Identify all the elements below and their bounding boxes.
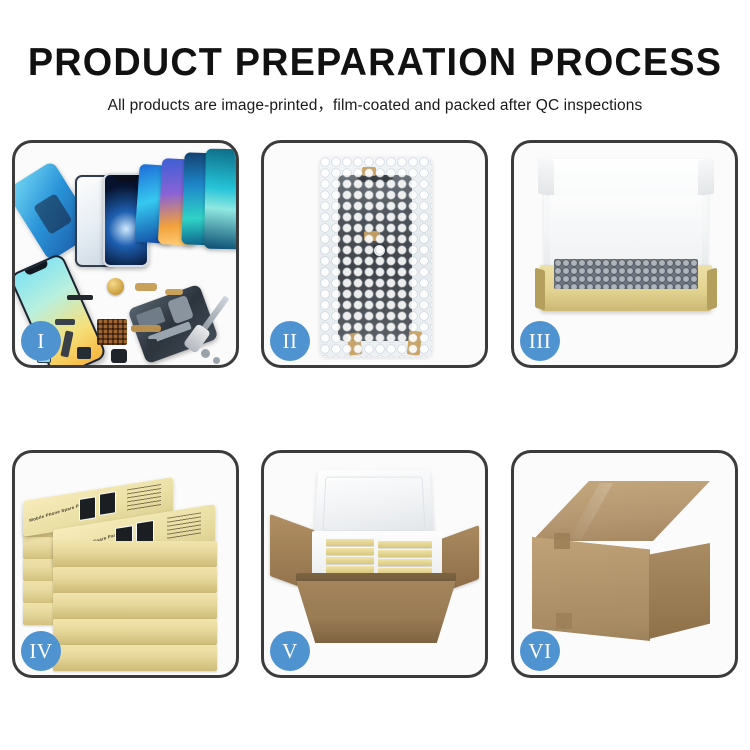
phone-cyan	[204, 149, 236, 250]
tape-strip-bottom-right	[407, 330, 422, 355]
bubble-wrapped-contents	[554, 259, 698, 289]
camera-module-part	[77, 347, 91, 359]
screw-part-b	[213, 357, 220, 364]
box-print-text-lines-a	[127, 484, 161, 511]
tape-strip-middle	[364, 231, 380, 241]
box-print-text-lines-b	[167, 512, 201, 539]
inner-box-3	[326, 557, 374, 564]
tape-strip-bottom-left	[347, 332, 363, 356]
stacked-box-front-4	[53, 619, 217, 645]
inner-box-4	[326, 566, 374, 573]
tape-strip-top	[362, 167, 376, 176]
styrofoam-lid	[314, 469, 435, 539]
stacked-box-front-3	[53, 593, 217, 619]
stacked-box-front-2	[53, 567, 217, 593]
inner-box-7	[378, 559, 432, 566]
inner-box-2	[326, 548, 374, 555]
step-badge-6: VI	[520, 631, 560, 671]
antenna-cable-part	[131, 325, 161, 332]
clip-part	[55, 319, 75, 325]
inner-box-5	[378, 541, 432, 548]
step-panel-2: II	[261, 140, 488, 368]
vibration-motor-part	[107, 278, 124, 295]
screw-part-a	[201, 349, 210, 358]
step-badge-2: II	[270, 321, 310, 361]
step-badge-4: IV	[21, 631, 61, 671]
gold-connector-part	[135, 283, 157, 291]
gold-flex-part	[165, 289, 183, 295]
step-badge-3: III	[520, 321, 560, 361]
box-print-screen-a2	[99, 491, 116, 516]
button-part	[111, 349, 127, 363]
page-subtitle: All products are image-printed，film-coat…	[0, 84, 750, 115]
step-panel-5: V	[261, 450, 488, 678]
step-panel-6: VI	[511, 450, 738, 678]
stacked-box-front-5	[53, 645, 217, 671]
step-badge-1: I	[21, 321, 61, 361]
infographic-page: PRODUCT PREPARATION PROCESS All products…	[0, 0, 750, 750]
step-badge-5: V	[270, 631, 310, 671]
stacked-box-front-1	[53, 541, 217, 567]
process-steps-grid: I II III	[12, 140, 738, 678]
inner-box-1	[326, 539, 374, 546]
flex-cable-part	[67, 295, 93, 300]
carton-body	[296, 581, 456, 643]
camera-ring-detail	[372, 243, 387, 258]
speaker-mesh-part	[97, 319, 127, 345]
step-panel-4: Mobile Phone Spare Parts Mobile Phone Sp…	[12, 450, 239, 678]
carton-tape-upper	[554, 533, 570, 549]
inner-box-6	[378, 550, 432, 557]
header: PRODUCT PREPARATION PROCESS All products…	[0, 0, 750, 115]
sealed-carton-side	[649, 543, 710, 639]
step-panel-1: I	[12, 140, 239, 368]
step-panel-3: III	[511, 140, 738, 368]
shield-part	[147, 339, 157, 355]
wrapped-phone-screen	[338, 175, 412, 341]
bubble-wrap-bag	[320, 157, 432, 357]
sealed-carton-front	[532, 537, 650, 641]
sealed-carton-top	[532, 481, 710, 541]
page-title: PRODUCT PREPARATION PROCESS	[11, 0, 739, 84]
box-print-screen-a1	[79, 496, 96, 521]
carton-tape-lower	[556, 613, 572, 629]
